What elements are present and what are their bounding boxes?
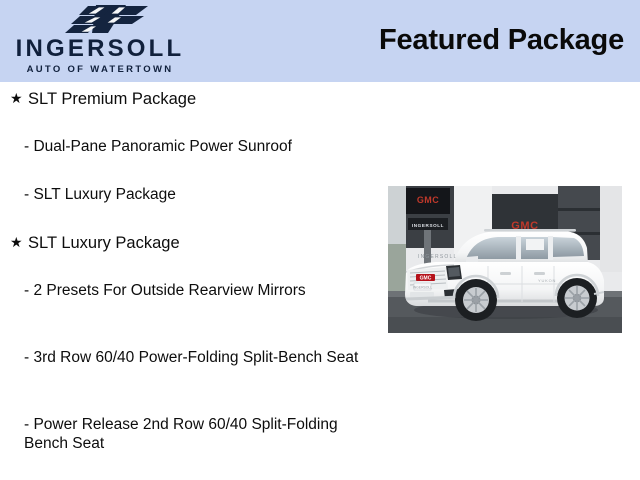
list-item-label: - 3rd Row 60/40 Power-Folding Split-Benc… xyxy=(24,349,358,366)
list-item: - 3rd Row 60/40 Power-Folding Split-Benc… xyxy=(0,349,385,368)
svg-text:YUKON: YUKON xyxy=(538,278,556,283)
vehicle-photo-illustration: GMC INGERSOLL GMC INGERSOLL xyxy=(388,186,622,333)
list-item: ★SLT Luxury Package xyxy=(0,234,388,253)
list-item: - 2 Presets For Outside Rearview Mirrors xyxy=(0,282,335,301)
star-bullet-icon: ★ xyxy=(10,90,28,107)
svg-text:INGERSOLL: INGERSOLL xyxy=(418,254,457,260)
vehicle-photo: GMC INGERSOLL GMC INGERSOLL xyxy=(388,186,622,333)
svg-text:INGERSOLL: INGERSOLL xyxy=(413,286,433,290)
list-item-label: - SLT Luxury Package xyxy=(24,186,176,203)
list-item-label: SLT Premium Package xyxy=(28,90,196,108)
svg-text:GMC: GMC xyxy=(420,276,432,282)
star-bullet-icon: ★ xyxy=(10,234,28,251)
brand-tagline: AUTO OF WATERTOWN xyxy=(0,65,200,75)
winged-emblem-icon xyxy=(52,4,160,34)
svg-text:GMC: GMC xyxy=(417,195,439,205)
brand-logo: INGERSOLL AUTO OF WATERTOWN xyxy=(0,2,210,82)
header-banner: INGERSOLL AUTO OF WATERTOWN Featured Pac… xyxy=(0,0,640,82)
page-title: Featured Package xyxy=(379,24,624,57)
list-item-label: SLT Luxury Package xyxy=(28,234,180,252)
list-item: ★SLT Premium Package xyxy=(0,90,388,109)
list-item-label: - 2 Presets For Outside Rearview Mirrors xyxy=(24,282,306,299)
brand-name: INGERSOLL xyxy=(0,37,200,61)
svg-text:INGERSOLL: INGERSOLL xyxy=(412,223,444,228)
list-item: - Dual-Pane Panoramic Power Sunroof xyxy=(0,138,408,157)
list-item: - SLT Luxury Package xyxy=(0,186,408,205)
list-item-label: - Dual-Pane Panoramic Power Sunroof xyxy=(24,138,292,155)
list-item: - Power Release 2nd Row 60/40 Split-Fold… xyxy=(0,416,350,454)
list-item-label: - Power Release 2nd Row 60/40 Split-Fold… xyxy=(24,416,338,452)
